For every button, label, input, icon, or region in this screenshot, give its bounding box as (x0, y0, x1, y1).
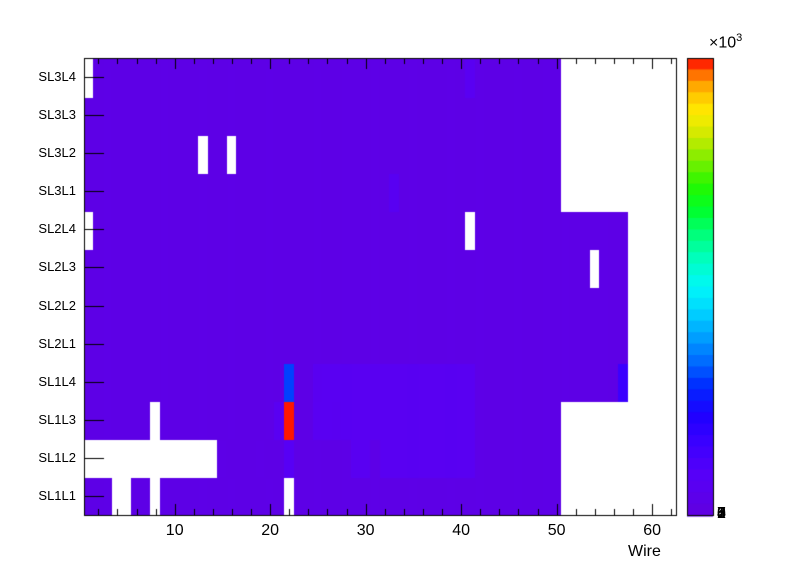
y-axis-tick-label: SL1L3 (14, 412, 76, 427)
colorbar-exponent-power: 3 (736, 32, 742, 44)
root-canvas: Ocupancy (without noisy cells), run: 642… (0, 0, 796, 572)
x-axis-tick-label: 10 (153, 522, 197, 540)
y-axis-tick-label: SL2L4 (14, 221, 76, 236)
x-axis-title: Wire (628, 543, 661, 561)
x-axis-tick-label: 40 (439, 522, 483, 540)
occupancy-heatmap[interactable] (0, 0, 796, 572)
y-axis-tick-label: SL2L3 (14, 259, 76, 274)
y-axis-tick-label: SL1L4 (14, 374, 76, 389)
y-axis-tick-label: SL2L2 (14, 298, 76, 313)
y-axis-tick-label: SL3L2 (14, 145, 76, 160)
x-axis-tick-label: 20 (248, 522, 292, 540)
y-axis-tick-label: SL2L1 (14, 336, 76, 351)
y-axis-tick-label: SL1L2 (14, 450, 76, 465)
y-axis-tick-label: SL3L3 (14, 107, 76, 122)
y-axis-tick-label: SL3L1 (14, 183, 76, 198)
x-axis-tick-label: 50 (535, 522, 579, 540)
colorbar-exponent: ×103 (709, 32, 742, 52)
x-axis-tick-label: 60 (630, 522, 674, 540)
colorbar-tick-label: 7 (717, 505, 753, 523)
colorbar-exponent-base: ×10 (709, 34, 736, 51)
y-axis-tick-label: SL1L1 (14, 488, 76, 503)
y-axis-tick-label: SL3L4 (14, 69, 76, 84)
x-axis-tick-label: 30 (344, 522, 388, 540)
